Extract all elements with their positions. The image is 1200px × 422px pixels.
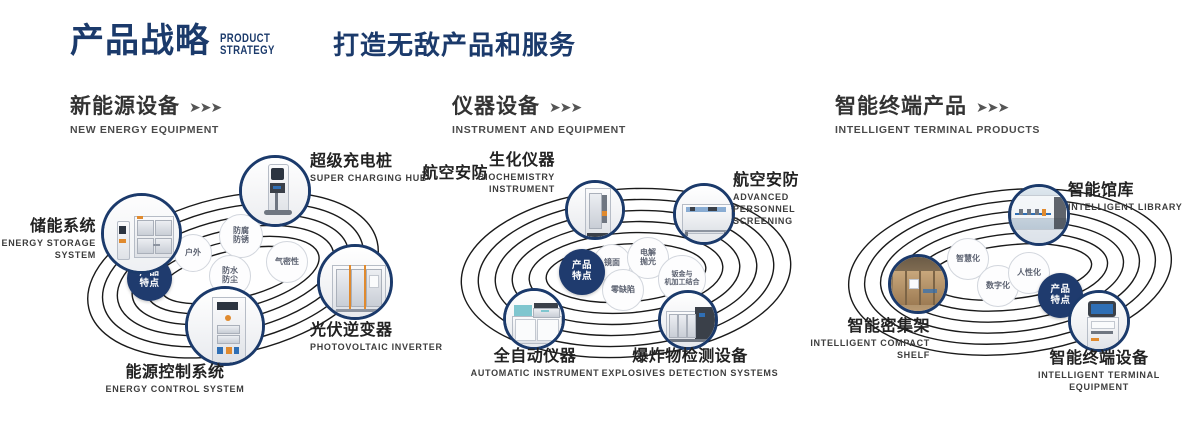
chevron-right-icon: ➤➤➤ [549,100,581,114]
section-title-intelligent: 智能终端产品➤➤➤ INTELLIGENT TERMINAL PRODUCTS [835,96,1040,136]
section-label-en: NEW ENERGY EQUIPMENT [70,124,221,136]
node-super-charging-hub[interactable] [239,155,311,227]
chevron-right-icon: ➤➤➤ [976,100,1008,114]
feature-bubble: 零缺陷 [602,269,644,311]
chevron-right-icon: ➤➤➤ [189,100,221,114]
caption-explosives-detection: 爆炸物检测设备 EXPLOSIVES DETECTION SYSTEMS [600,348,780,380]
section-label-en: INTELLIGENT TERMINAL PRODUCTS [835,124,1040,136]
feature-bubble: 气密性 [266,241,308,283]
node-energy-control-system[interactable] [185,286,265,366]
instrument-cluster: 镜面 电解 抛光 零缺陷 钣金与 机加工结合 产品特点 航空安防 生化仪器 BI… [428,150,828,410]
intelligent-cluster: 智慧化 数字化 人性化 产品特点 智能馆库 INTELLIGENT LIBRAR… [820,150,1200,410]
node-intelligent-compact-shelf[interactable] [888,254,948,314]
caption-intelligent-compact-shelf: 智能密集架 INTELLIGENT COMPACT SHELF [780,318,930,362]
caption-intelligent-library: 智能馆库 INTELLIGENT LIBRARY [1068,182,1182,214]
section-label-cn: 新能源设备 [70,96,180,117]
node-automatic-instrument[interactable] [503,288,565,350]
section-label-en: INSTRUMENT AND EQUIPMENT [452,124,626,136]
caption-energy-storage-system: 储能系统 ENERGY STORAGE SYSTEM [0,218,96,262]
page-title-en: PRODUCT STRATEGY [220,32,275,56]
node-biochemistry-instrument[interactable] [565,180,625,240]
node-intelligent-library[interactable] [1008,184,1070,246]
page-header: 产品战略 PRODUCT STRATEGY [70,24,288,58]
caption-photovoltaic-inverter: 光伏逆变器 PHOTOVOLTAIC INVERTER [310,322,443,354]
node-photovoltaic-inverter[interactable] [317,244,393,320]
node-advanced-personnel-screening[interactable] [673,183,735,245]
section-title-instrument: 仪器设备➤➤➤ INSTRUMENT AND EQUIPMENT [452,96,626,136]
section-label-cn: 仪器设备 [452,96,540,117]
infographic-canvas: 产品战略 PRODUCT STRATEGY 打造无敌产品和服务 新能源设备➤➤➤… [0,0,1200,422]
node-energy-storage-system[interactable] [101,193,182,274]
caption-biochemistry-instrument: 生化仪器 BIOCHEMISTRY INSTRUMENT [410,152,555,196]
core-badge-product-features: 产品特点 [559,249,605,295]
page-title: 产品战略 [70,24,210,58]
node-explosives-detection[interactable] [658,290,718,350]
caption-intelligent-terminal-equipment: 智能终端设备 INTELLIGENT TERMINAL EQUIPMENT [1010,350,1188,394]
caption-advanced-personnel-screening: 航空安防 ADVANCED PERSONNEL SCREENING [733,172,828,227]
node-intelligent-terminal-equipment[interactable] [1068,290,1130,352]
new-energy-cluster: 户外 防腐 防锈 气密性 防水 防尘 产品特点 储能系统 [45,150,445,410]
section-label-cn: 智能终端产品 [835,96,967,117]
section-title-new-energy: 新能源设备➤➤➤ NEW ENERGY EQUIPMENT [70,96,221,136]
caption-energy-control-system: 能源控制系统 ENERGY CONTROL SYSTEM [80,364,270,396]
page-subtitle: 打造无敌产品和服务 [333,32,576,58]
